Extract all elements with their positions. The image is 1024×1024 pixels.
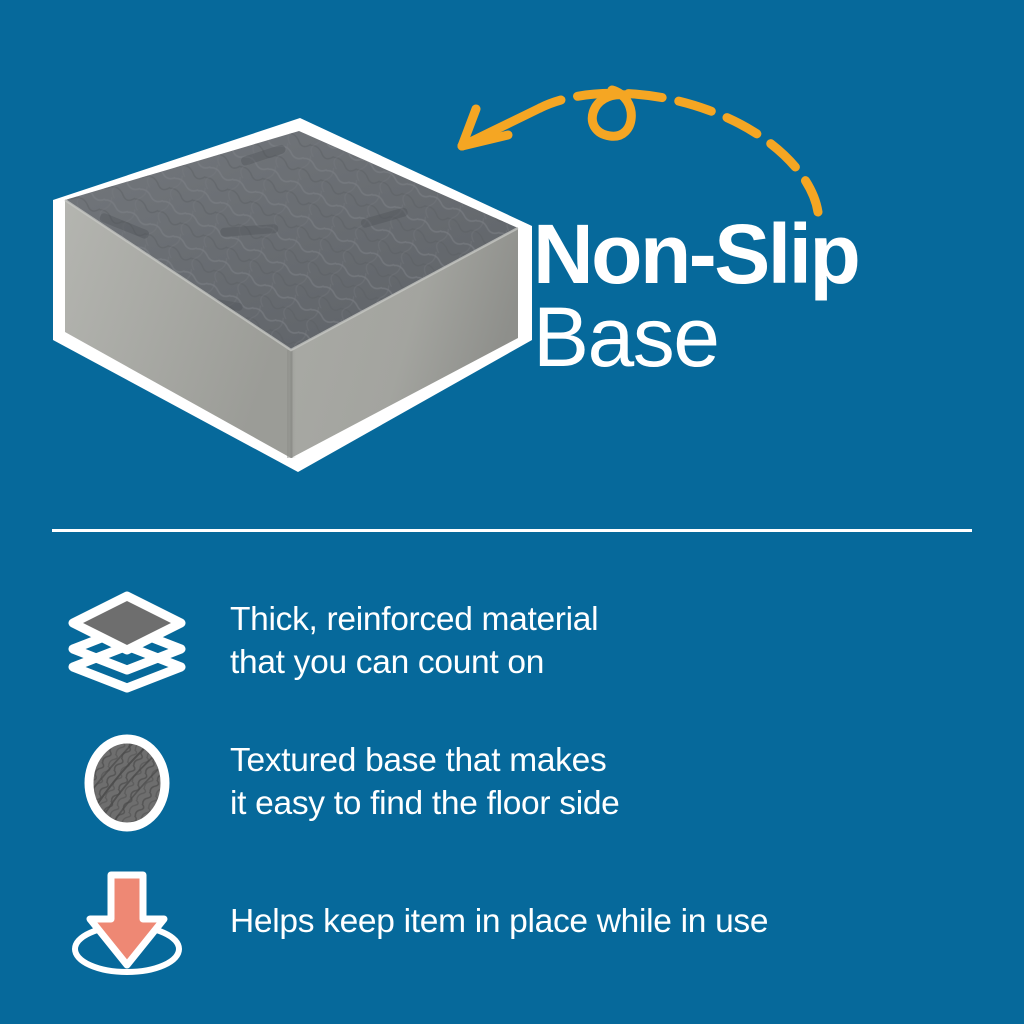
page-title: Non-Slip Base [533, 215, 1003, 381]
headline-line-1: Non-Slip [533, 215, 1003, 293]
list-item: Helps keep item in place while in use [62, 865, 982, 980]
list-item: Textured base that makes it easy to find… [62, 725, 982, 840]
feature-list: Thick, reinforced material that you can … [0, 560, 1024, 1024]
down-arrow-icon-svg [64, 867, 190, 979]
list-item-label: Helps keep item in place while in use [230, 901, 768, 943]
textured-circle-icon [62, 725, 192, 840]
list-item-label: Thick, reinforced material that you can … [230, 599, 598, 683]
headline-line-2: Base [533, 293, 1003, 381]
hero-section: Non-Slip Base [0, 0, 1024, 510]
divider [52, 529, 972, 532]
arrow-strokes [462, 90, 818, 212]
list-item: Thick, reinforced material that you can … [62, 584, 982, 699]
textured-circle-icon-svg [72, 727, 182, 839]
non-slip-base-infographic: Non-Slip Base Thick, reinforced material… [0, 0, 1024, 1024]
list-item-label: Textured base that makes it easy to find… [230, 740, 620, 824]
down-arrow-into-ellipse-icon [62, 865, 192, 980]
layers-icon-svg [67, 588, 187, 696]
layers-icon [62, 584, 192, 699]
down-arrow [90, 875, 164, 965]
